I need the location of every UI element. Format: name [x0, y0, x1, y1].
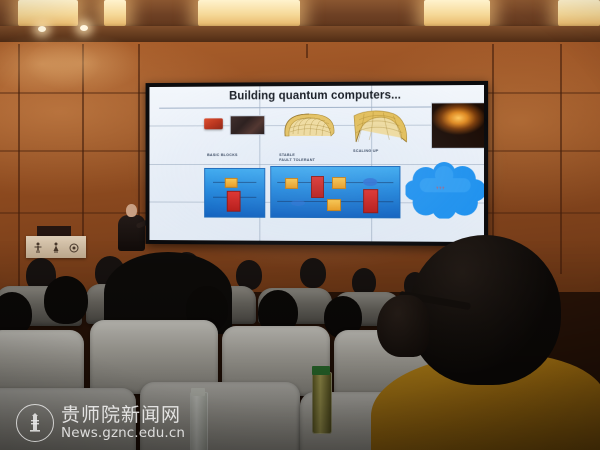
- water-bottle: [190, 392, 208, 450]
- blue-ellipse: [363, 178, 377, 186]
- facility-pictogram-sign: [26, 236, 86, 258]
- gold-lattice-tube: [279, 110, 339, 140]
- ceiling-spotlight-right: [80, 25, 88, 31]
- restroom-icon: [50, 242, 62, 254]
- wall-wash-light-5: [558, 0, 600, 26]
- wall-wash-light-4: [424, 0, 490, 26]
- restroom-icon: [32, 242, 44, 254]
- spotlight-glow: [24, 33, 144, 93]
- dilution-refrigerator-photo: [431, 102, 484, 149]
- wall-wash-light-1: [18, 0, 78, 26]
- tea-bottle: [312, 372, 332, 434]
- slide-title: Building quantum computers...: [149, 89, 484, 103]
- foreground-attendee-head: [409, 235, 561, 385]
- wall-wash-light-2: [104, 0, 126, 26]
- red-rectangle: [227, 191, 241, 212]
- watermark-text: 贵师院新闻网 News.gznc.edu.cn: [61, 406, 185, 440]
- bottle-cap: [191, 388, 205, 396]
- wall-seam: [306, 44, 308, 58]
- audience-head: [44, 276, 88, 324]
- title-divider: [159, 106, 474, 108]
- watermark-chinese: 贵师院新闻网: [61, 406, 185, 426]
- cloud-shape: [406, 162, 484, 219]
- qubit-diagram-basic: [204, 168, 265, 218]
- column-label-scaling-up: SCALING UP: [353, 149, 378, 154]
- chip-photo-thumbnail: [230, 115, 266, 135]
- wall-wash-light-3: [198, 0, 300, 26]
- news-watermark: 贵师院新闻网 News.gznc.edu.cn: [16, 404, 185, 442]
- tower-emblem-icon: [23, 411, 47, 435]
- orange-square: [332, 177, 346, 189]
- orange-square: [327, 199, 341, 211]
- column-label-basic-blocks: BASIC BLOCKS: [207, 153, 238, 158]
- accessibility-icon: [68, 242, 80, 254]
- orange-square: [285, 178, 298, 189]
- column-label-stable-fault-tolerant: STABLEFAULT TOLERANT: [279, 153, 315, 163]
- foreground-attendee-ear: [377, 295, 429, 357]
- gold-lattice-arch: [351, 108, 410, 146]
- red-rectangle: [311, 176, 324, 198]
- audience-head: [300, 258, 326, 288]
- watermark-url: News.gznc.edu.cn: [61, 426, 185, 440]
- bottle-cap: [312, 366, 330, 375]
- orange-square: [225, 178, 238, 188]
- blue-ellipse: [291, 200, 305, 206]
- cloud-label: ???: [436, 185, 445, 190]
- red-rectangle: [363, 189, 378, 213]
- foreground-attendee: [371, 235, 600, 450]
- qubit-diagram-fault-tolerant: [270, 166, 400, 218]
- gznc-news-logo: [16, 404, 54, 442]
- video-wall[interactable]: Building quantum computers...: [146, 81, 489, 246]
- photograph-lecture-hall: Building quantum computers...: [0, 0, 600, 450]
- presenter-head: [126, 204, 137, 217]
- presentation-slide: Building quantum computers...: [149, 85, 484, 242]
- red-chip-render: [204, 118, 223, 129]
- ceiling-spotlight-left: [38, 26, 46, 32]
- presenter-body: [118, 215, 145, 251]
- seat: [0, 330, 84, 392]
